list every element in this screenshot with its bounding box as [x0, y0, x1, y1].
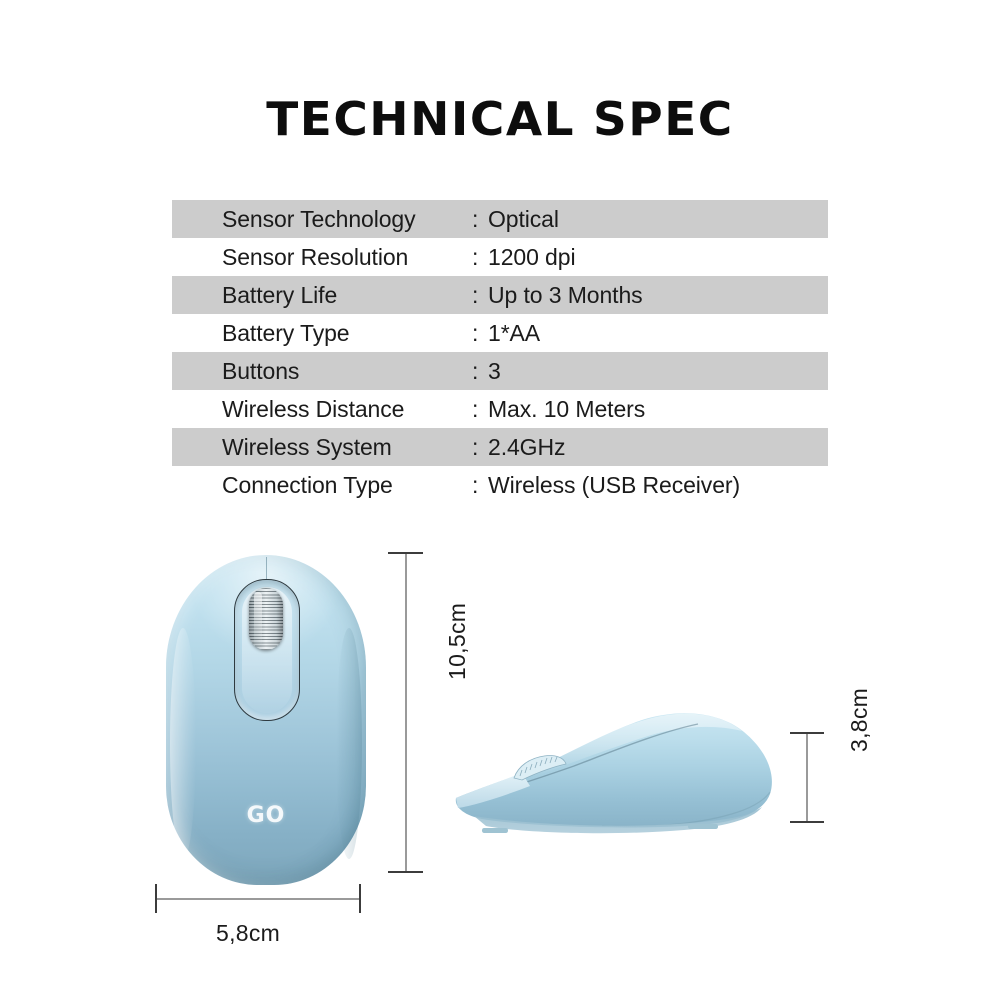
mouse-foot-front	[482, 828, 508, 833]
side-height-dimension-cap-top	[790, 732, 824, 734]
width-dimension-cap-left	[155, 884, 157, 913]
spec-separator: :	[472, 358, 478, 385]
spec-separator: :	[472, 244, 478, 271]
mouse-side-svg	[452, 700, 782, 845]
spec-label: Battery Life	[222, 282, 337, 309]
scroll-wheel-icon	[249, 588, 283, 650]
spec-label: Wireless System	[222, 434, 392, 461]
page-title: TECHNICAL SPEC	[0, 96, 1000, 142]
spec-value: 3	[488, 358, 501, 385]
side-height-dimension-cap-bottom	[790, 821, 824, 823]
spec-value: Optical	[488, 206, 559, 233]
side-height-dimension-label: 3,8cm	[846, 688, 873, 752]
spec-label: Sensor Resolution	[222, 244, 408, 271]
spec-value: 1200 dpi	[488, 244, 575, 271]
table-row: Buttons : 3	[172, 352, 828, 390]
spec-value: Wireless (USB Receiver)	[488, 472, 740, 499]
table-row: Wireless System : 2.4GHz	[172, 428, 828, 466]
height-dimension-line	[405, 553, 407, 872]
spec-separator: :	[472, 320, 478, 347]
table-row: Battery Type : 1*AA	[172, 314, 828, 352]
table-row: Battery Life : Up to 3 Months	[172, 276, 828, 314]
spec-value: Max. 10 Meters	[488, 396, 645, 423]
table-row: Sensor Resolution : 1200 dpi	[172, 238, 828, 276]
width-dimension-line	[156, 898, 361, 900]
side-height-dimension-line	[806, 733, 808, 822]
mouse-side-view	[452, 700, 782, 845]
spec-separator: :	[472, 206, 478, 233]
spec-separator: :	[472, 434, 478, 461]
spec-label: Connection Type	[222, 472, 393, 499]
spec-value: 2.4GHz	[488, 434, 565, 461]
height-dimension-label: 10,5cm	[444, 603, 471, 680]
product-spec-page: TECHNICAL SPEC Sensor Technology : Optic…	[0, 0, 1000, 1000]
width-dimension-label: 5,8cm	[216, 920, 280, 947]
table-row: Connection Type : Wireless (USB Receiver…	[172, 466, 828, 504]
spec-label: Battery Type	[222, 320, 350, 347]
table-row: Sensor Technology : Optical	[172, 200, 828, 238]
mouse-foot-rear	[688, 824, 718, 829]
spec-table: Sensor Technology : Optical Sensor Resol…	[172, 200, 828, 504]
product-figure-area: GO	[0, 520, 1000, 1000]
spec-label: Buttons	[222, 358, 299, 385]
spec-label: Wireless Distance	[222, 396, 404, 423]
spec-value: Up to 3 Months	[488, 282, 643, 309]
spec-separator: :	[472, 396, 478, 423]
spec-separator: :	[472, 282, 478, 309]
width-dimension-cap-right	[359, 884, 361, 913]
height-dimension-cap-bottom	[388, 871, 423, 873]
mouse-side-body	[456, 713, 772, 827]
scroll-wheel-highlight	[254, 592, 262, 646]
spec-value: 1*AA	[488, 320, 540, 347]
table-row: Wireless Distance : Max. 10 Meters	[172, 390, 828, 428]
height-dimension-cap-top	[388, 552, 423, 554]
spec-label: Sensor Technology	[222, 206, 416, 233]
mouse-top-view: GO	[166, 555, 366, 885]
spec-separator: :	[472, 472, 478, 499]
brand-logo: GO	[166, 803, 366, 828]
